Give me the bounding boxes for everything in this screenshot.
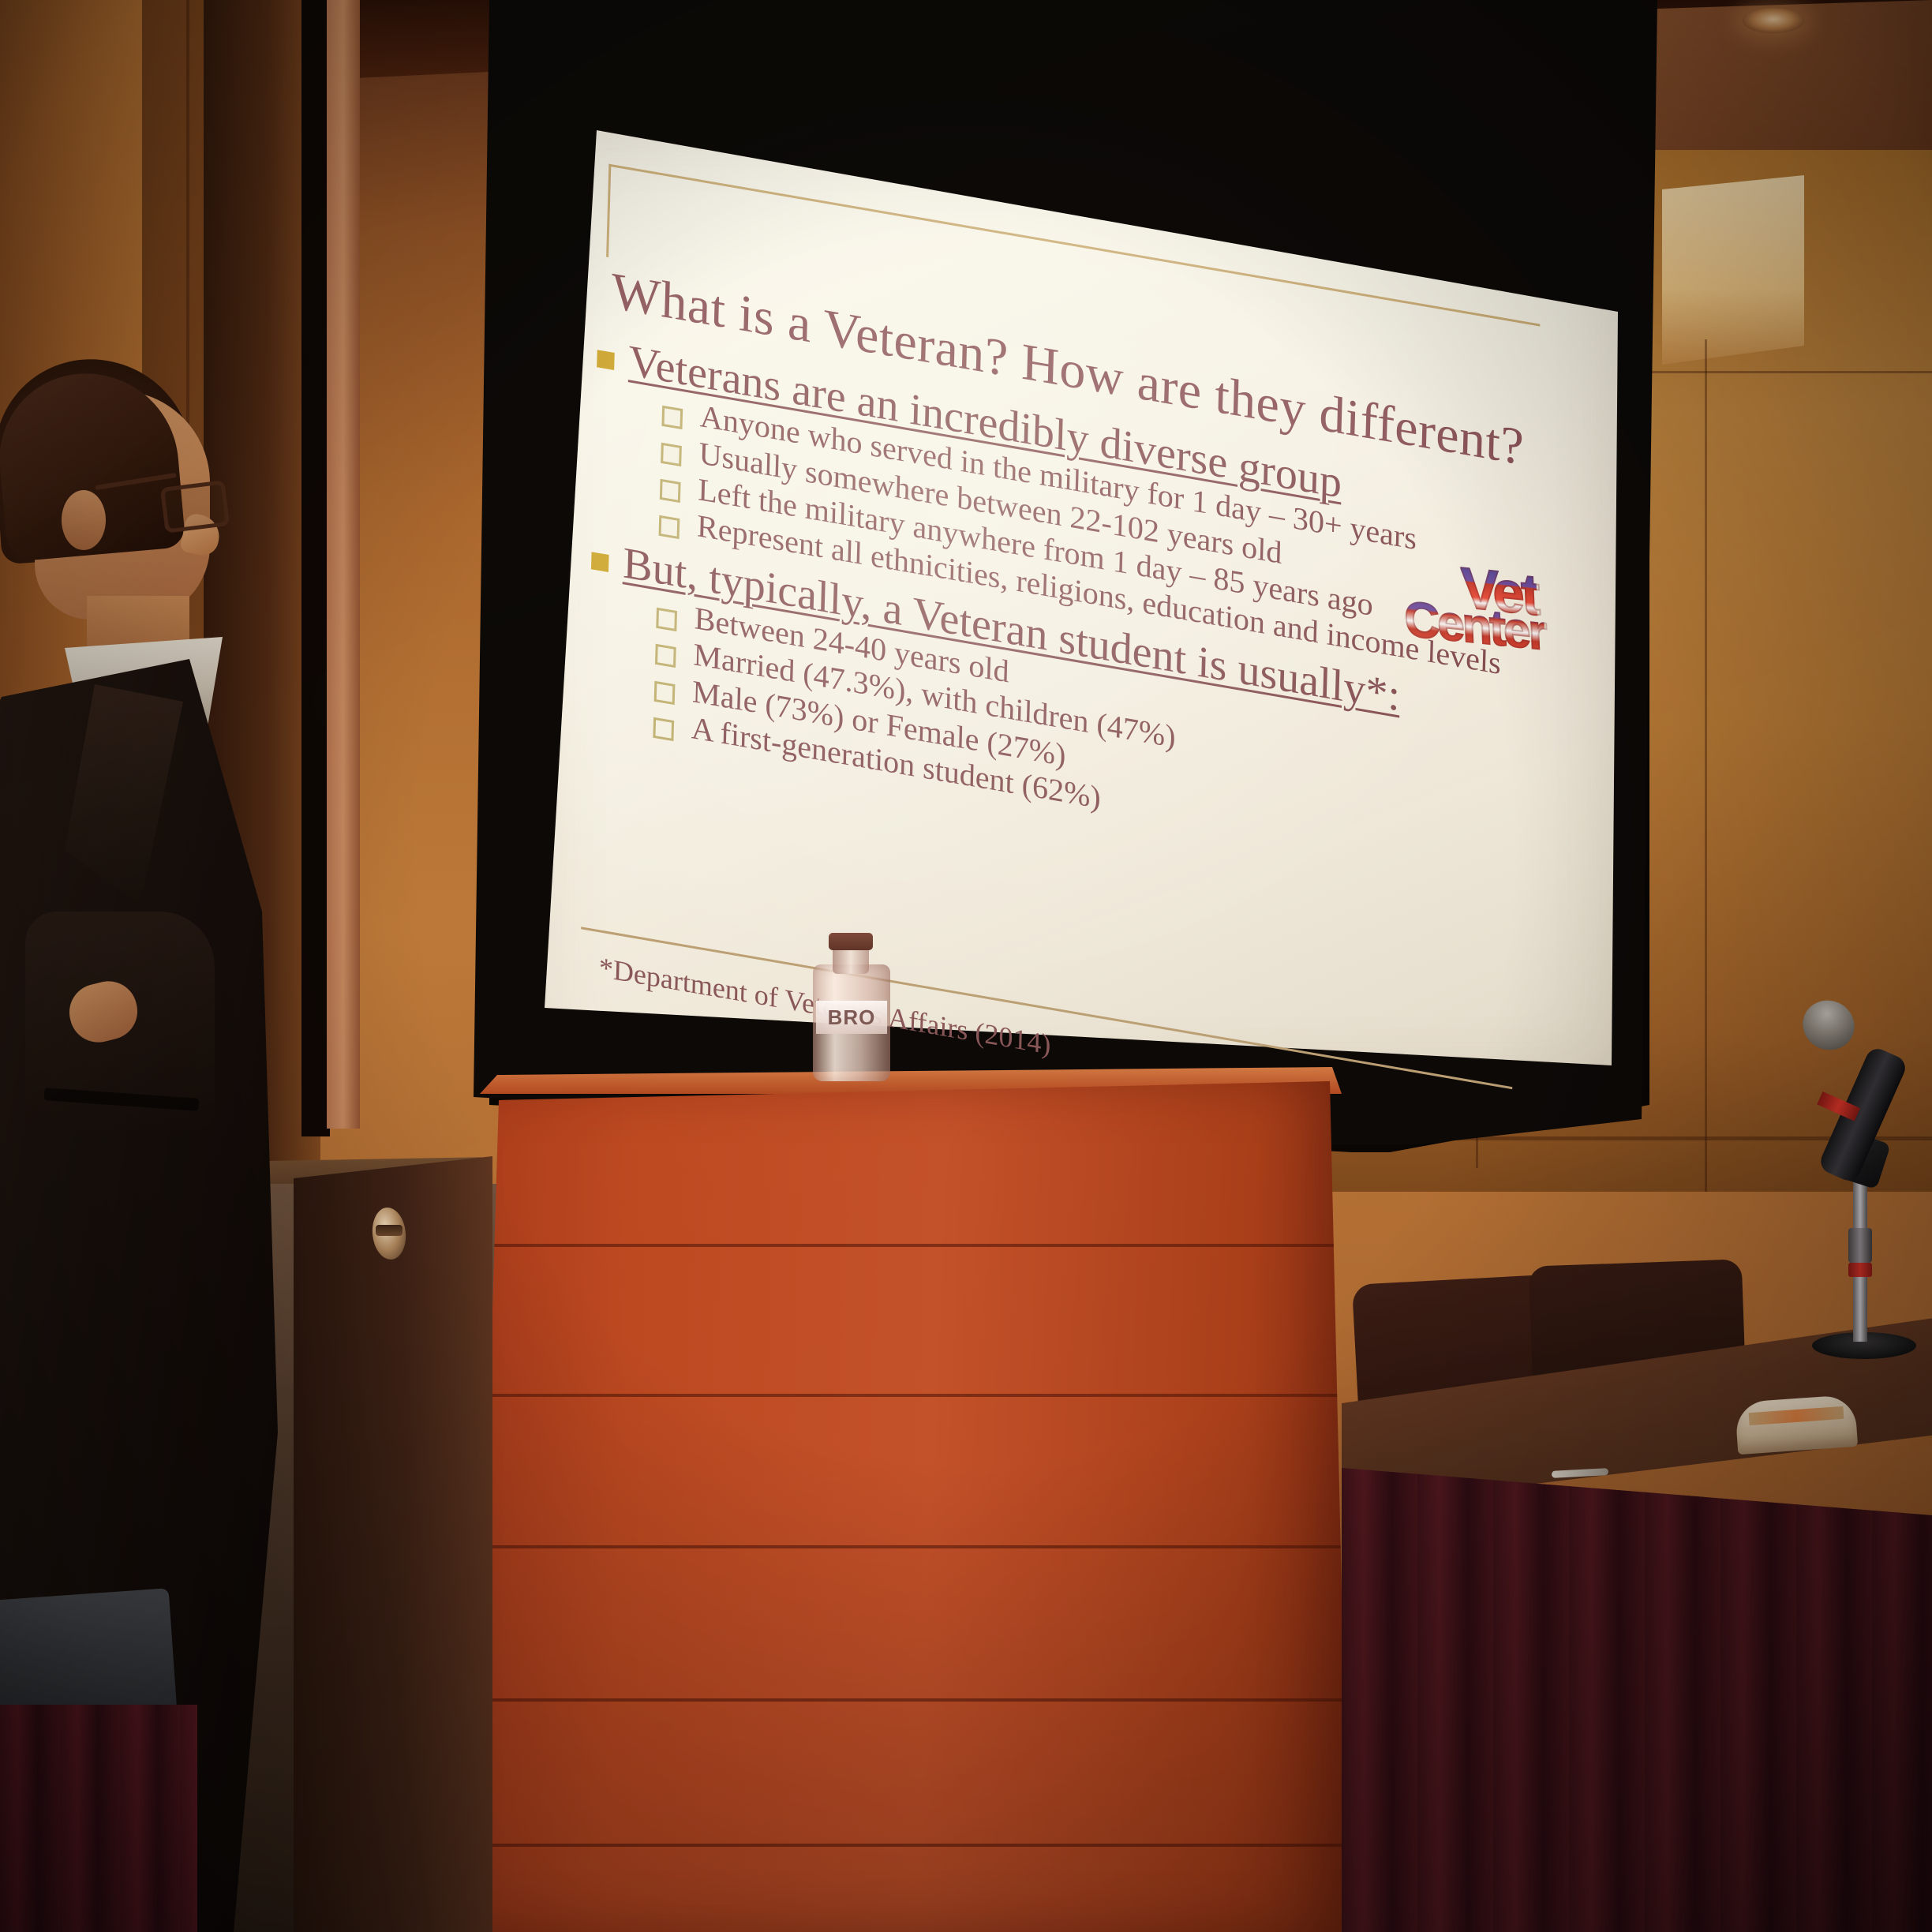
sub-bullet-square-icon xyxy=(654,681,676,705)
podium-plank-seam xyxy=(474,1698,1350,1702)
podium-knob-slot xyxy=(376,1225,402,1236)
foreground-table-skirt xyxy=(0,1705,197,1932)
sub-bullet-square-icon xyxy=(661,442,682,466)
sub-bullet-square-icon xyxy=(659,515,680,539)
projected-slide: What is a Veteran? How are they differen… xyxy=(541,139,1606,1206)
slide-rule-left xyxy=(606,164,611,258)
bottle-cap xyxy=(829,933,873,950)
podium xyxy=(474,1081,1350,1932)
bullet-square-icon xyxy=(591,552,609,572)
bottle-label-text: BRO xyxy=(828,1005,876,1030)
podium-plank-seam xyxy=(474,1244,1350,1247)
podium-plank-seam xyxy=(474,1394,1350,1397)
sub-bullet-square-icon xyxy=(660,479,681,503)
glasses-icon xyxy=(160,480,230,534)
ear xyxy=(62,490,106,550)
sub-bullet-square-icon xyxy=(661,406,683,429)
sub-bullet-square-icon xyxy=(656,608,677,631)
recessed-downlight-icon xyxy=(1743,8,1804,33)
sub-bullet-square-icon xyxy=(653,717,674,741)
sub-bullet-square-icon xyxy=(655,644,676,668)
presentation-photo-scene: What is a Veteran? How are they differen… xyxy=(0,0,1932,1932)
wall-panel-seam xyxy=(1705,339,1707,1192)
podium-plank-seam xyxy=(474,1844,1350,1847)
bottle-label: BRO xyxy=(816,1001,887,1034)
microphone-red-band-lower xyxy=(1848,1263,1872,1277)
table-skirt xyxy=(1342,1468,1932,1932)
bullet-square-icon xyxy=(597,350,615,370)
vet-center-logo: Vet Center xyxy=(1408,553,1578,682)
podium-plank-seam xyxy=(474,1545,1350,1548)
wall-light-patch xyxy=(1662,175,1804,365)
microphone-collar xyxy=(1848,1228,1872,1263)
